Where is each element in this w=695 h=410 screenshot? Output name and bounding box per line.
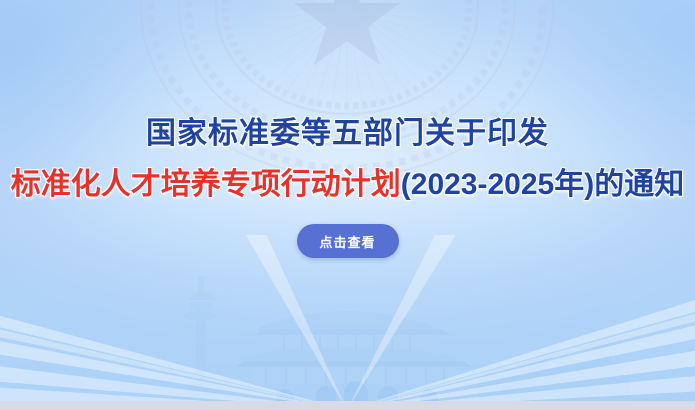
banner-title-plan-period: (2023-2025年)的通知 [401,168,684,201]
click-to-view-button[interactable]: 点击查看 [297,224,399,258]
banner-content: 国家标准委等五部门关于印发 标准化人才培养专项行动计划(2023-2025年)的… [0,0,695,410]
promo-banner: 国家标准委等五部门关于印发 标准化人才培养专项行动计划(2023-2025年)的… [0,0,695,410]
banner-title-plan-name: 标准化人才培养专项行动计划 [11,168,401,201]
banner-title-line-1: 国家标准委等五部门关于印发 [146,119,549,149]
banner-title-line-2: 标准化人才培养专项行动计划(2023-2025年)的通知 [11,170,684,200]
